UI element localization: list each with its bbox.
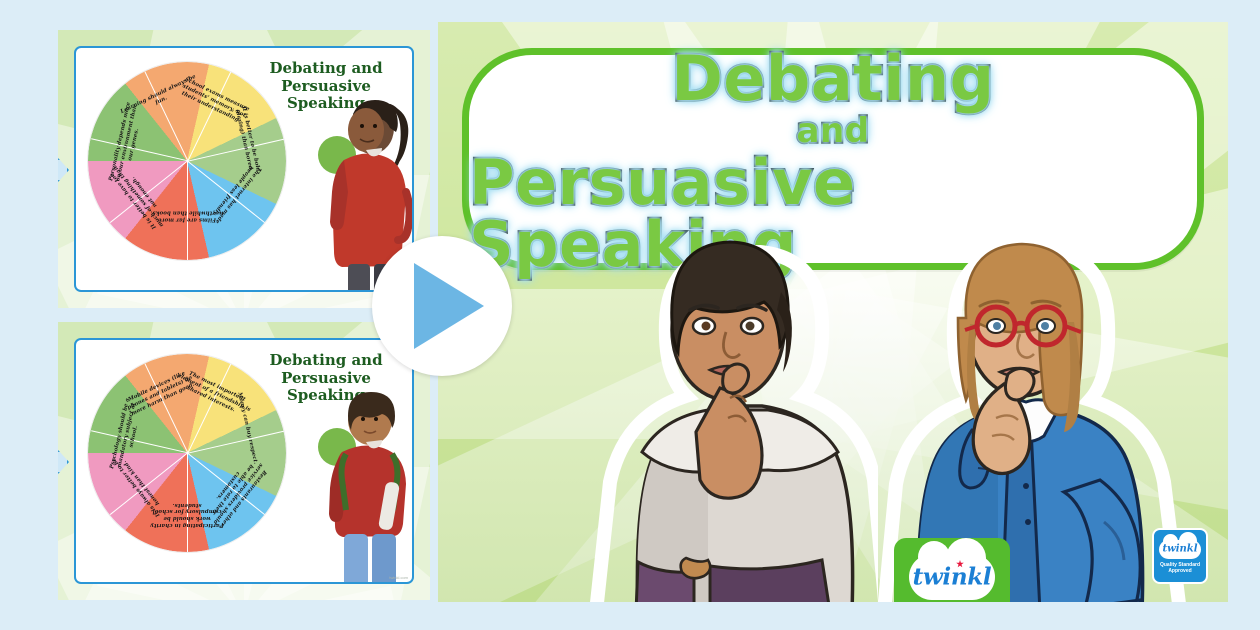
page-title-line-1: Debating <box>671 48 994 110</box>
play-triangle-icon <box>414 263 484 349</box>
thumb-title-line-2: Persuasive <box>256 78 396 96</box>
screenshot-stage: School exams measure students' memory, n… <box>0 0 1260 630</box>
thumb-credit: twinkl.com <box>389 575 408 580</box>
quality-badge-line-2: Approved <box>1160 568 1200 574</box>
thumb-title-line-2: Persuasive <box>256 370 396 388</box>
quality-standard-badge: twinkl Quality Standard Approved <box>1152 528 1208 584</box>
page-title-line-2: and <box>797 114 870 148</box>
main-slide[interactable]: Debating and Persuasive Speaking <box>438 22 1228 602</box>
play-button[interactable] <box>372 236 512 376</box>
cloud-shape-icon: twinkl <box>1159 540 1201 559</box>
thumb-frame: School exams measure students' memory, n… <box>74 46 414 292</box>
thumb-title-line-1: Debating and <box>256 352 396 370</box>
thumb-character-illustration <box>320 386 414 584</box>
character-thinking-girl-dark-hair <box>578 222 878 602</box>
twinkl-wordmark: twinkl <box>1159 544 1201 555</box>
slide-thumbnail-2[interactable]: The most important element of a friendsh… <box>58 322 430 600</box>
slide-thumbnail-1[interactable]: School exams measure students' memory, n… <box>58 30 430 308</box>
twinkl-wordmark: twinkl <box>909 564 995 591</box>
thumb-title-line-1: Debating and <box>256 60 396 78</box>
twinkl-logo: twinkl <box>894 538 1010 602</box>
cloud-shape-icon: twinkl <box>909 554 995 600</box>
quality-badge-text: Quality Standard Approved <box>1160 562 1200 575</box>
thumb-frame: The most important element of a friendsh… <box>74 338 414 584</box>
wheel-divider <box>187 161 188 260</box>
wheel-divider <box>187 453 188 552</box>
